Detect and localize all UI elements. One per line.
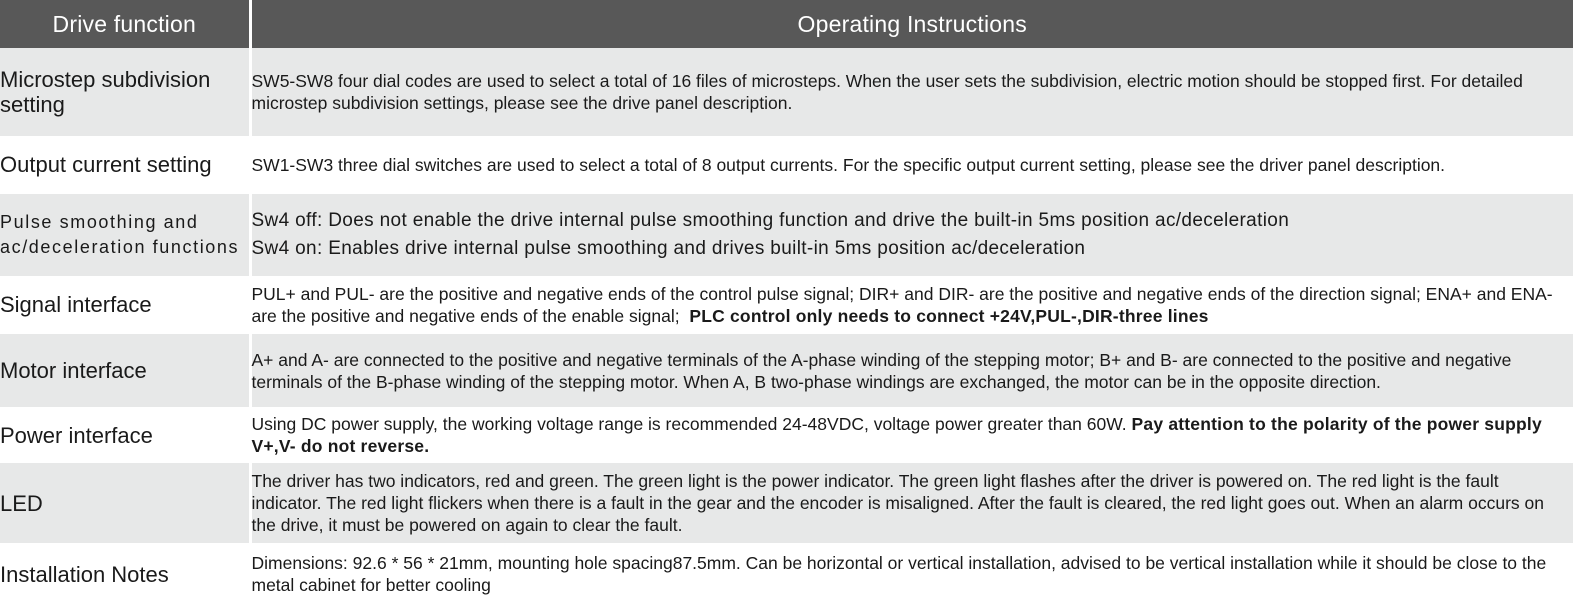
header-operating-instructions: Operating Instructions <box>250 0 1573 48</box>
row-instructions-motor-interface: A+ and A- are connected to the positive … <box>250 334 1573 407</box>
row-function-motor-interface: Motor interface <box>0 334 250 407</box>
row-function-power-interface: Power interface <box>0 407 250 463</box>
row-function-installation-notes: Installation Notes <box>0 543 250 605</box>
header-drive-function: Drive function <box>0 0 250 48</box>
row-function-pulse-smoothing: Pulse smoothing and ac/deceleration func… <box>0 194 250 276</box>
table-row-pulse-smoothing: Pulse smoothing and ac/deceleration func… <box>0 194 1573 276</box>
row-function-led: LED <box>0 463 250 543</box>
table-row-power-interface: Power interface Using DC power supply, t… <box>0 407 1573 463</box>
table-row-led: LED The driver has two indicators, red a… <box>0 463 1573 543</box>
row-function-signal-interface: Signal interface <box>0 276 250 334</box>
row-function-output-current-setting: Output current setting <box>0 136 250 193</box>
signal-interface-emphasis: PLC control only needs to connect +24V,P… <box>689 306 1208 326</box>
pulse-smoothing-sw4-off-line: Sw4 off: Does not enable the drive inter… <box>252 207 1573 235</box>
row-instructions-power-interface: Using DC power supply, the working volta… <box>250 407 1573 463</box>
table-header-row: Drive function Operating Instructions <box>0 0 1573 48</box>
row-instructions-led: The driver has two indicators, red and g… <box>250 463 1573 543</box>
table-row-motor-interface: Motor interface A+ and A- are connected … <box>0 334 1573 407</box>
row-function-microstep-subdivision-setting: Microstep subdivision setting <box>0 48 250 136</box>
table-row-installation-notes: Installation Notes Dimensions: 92.6 * 56… <box>0 543 1573 605</box>
row-instructions-output-current-setting: SW1-SW3 three dial switches are used to … <box>250 136 1573 193</box>
power-interface-text: Using DC power supply, the working volta… <box>252 414 1127 434</box>
row-instructions-signal-interface: PUL+ and PUL- are the positive and negat… <box>250 276 1573 334</box>
table-row-microstep-subdivision-setting: Microstep subdivision setting SW5-SW8 fo… <box>0 48 1573 136</box>
row-instructions-installation-notes: Dimensions: 92.6 * 56 * 21mm, mounting h… <box>250 543 1573 605</box>
drive-specification-table: Drive function Operating Instructions Mi… <box>0 0 1573 605</box>
table-row-output-current-setting: Output current setting SW1-SW3 three dia… <box>0 136 1573 193</box>
row-instructions-pulse-smoothing: Sw4 off: Does not enable the drive inter… <box>250 194 1573 276</box>
table-row-signal-interface: Signal interface PUL+ and PUL- are the p… <box>0 276 1573 334</box>
pulse-smoothing-sw4-on-line: Sw4 on: Enables drive internal pulse smo… <box>252 235 1573 263</box>
row-instructions-microstep-subdivision-setting: SW5-SW8 four dial codes are used to sele… <box>250 48 1573 136</box>
